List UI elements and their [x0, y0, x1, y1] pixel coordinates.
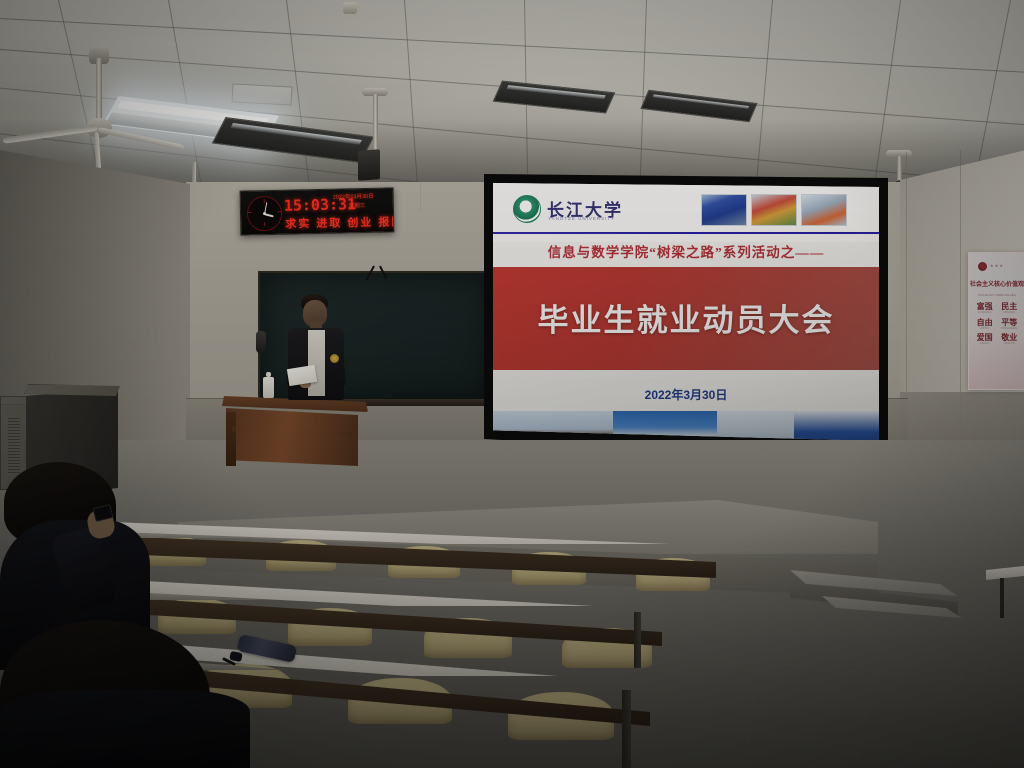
led-clock-display: 15:03:31 2022年03月30日 星期三 求实 进取 创业 报国 [240, 187, 395, 235]
presenter-shirt [308, 330, 325, 396]
clock-weekday: 星期三 [349, 201, 366, 209]
clock-date: 2022年03月30日 [333, 192, 374, 201]
header-thumbnail-2 [751, 194, 797, 226]
hand-sanitizer-bottle [263, 377, 274, 398]
socialist-core-values-poster: ★ ★ ★ 社会主义核心价值观 SOCIALIST CORE VALUES 富强… [968, 252, 1024, 390]
university-logo-icon [513, 195, 541, 223]
sprinkler-head [343, 2, 357, 14]
slide-title: 毕业生就业动员大会 [493, 295, 879, 340]
slide-header-rule [493, 232, 879, 234]
slide-subtitle: 信息与数学学院“树梁之路”系列活动之—— [493, 241, 879, 261]
header-thumbnail-3 [801, 194, 847, 226]
presenter-badge [330, 354, 339, 363]
classroom-scene: 长江大学 YANGTZE UNIVERSITY 信息与数学学院“树梁之路”系列活… [0, 0, 1024, 768]
university-name-en: YANGTZE UNIVERSITY [548, 216, 615, 221]
wall-speaker [256, 331, 266, 353]
projection-screen[interactable]: 长江大学 YANGTZE UNIVERSITY 信息与数学学院“树梁之路”系列活… [484, 174, 888, 462]
clock-motto: 求实 进取 创业 报国 [285, 213, 394, 231]
student-body [0, 690, 250, 768]
presentation-slide: 长江大学 YANGTZE UNIVERSITY 信息与数学学院“树梁之路”系列活… [493, 183, 879, 449]
clock-dial-icon [247, 196, 283, 232]
slide-date: 2022年3月30日 [493, 386, 879, 403]
ceiling-vent [232, 83, 293, 105]
ceiling-speaker [358, 149, 380, 181]
header-thumbnail-1 [701, 194, 747, 226]
